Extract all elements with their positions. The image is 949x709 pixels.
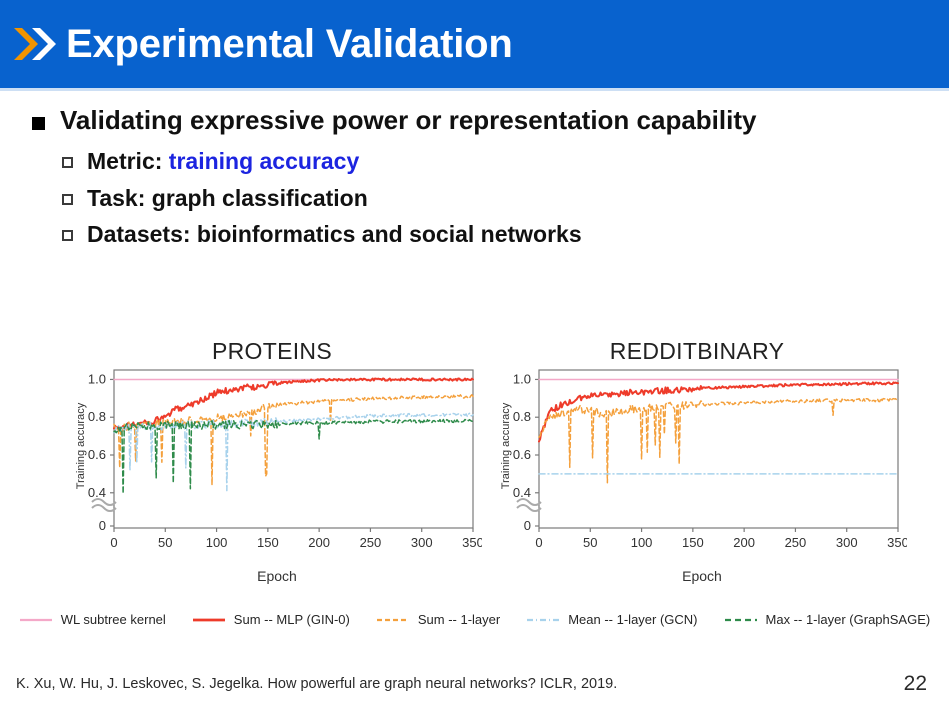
svg-text:150: 150 bbox=[257, 535, 279, 550]
legend-swatch-icon bbox=[724, 615, 758, 625]
legend-label: Max -- 1-layer (GraphSAGE) bbox=[766, 612, 931, 627]
bullet-level2-task: Task: graph classification bbox=[62, 181, 949, 216]
svg-text:0: 0 bbox=[535, 535, 542, 550]
double-chevron-right-icon bbox=[10, 22, 58, 66]
svg-text:1.0: 1.0 bbox=[513, 371, 531, 386]
svg-text:0: 0 bbox=[99, 518, 106, 533]
legend-swatch-icon bbox=[376, 615, 410, 625]
svg-text:250: 250 bbox=[360, 535, 382, 550]
svg-text:200: 200 bbox=[308, 535, 330, 550]
legend-swatch-icon bbox=[19, 615, 53, 625]
svg-text:250: 250 bbox=[785, 535, 807, 550]
bullet-level2-datasets-label: Datasets: bioinformatics and social netw… bbox=[87, 217, 582, 252]
hollow-square-bullet-icon bbox=[62, 194, 73, 205]
svg-text:0.8: 0.8 bbox=[88, 409, 106, 424]
bullet-level2-metric-label: Metric: training accuracy bbox=[87, 144, 359, 179]
page-title: Experimental Validation bbox=[66, 24, 513, 64]
svg-text:350: 350 bbox=[887, 535, 907, 550]
svg-text:1.0: 1.0 bbox=[88, 371, 106, 386]
chart-proteins: PROTEINS Training accuracy Epoch 00.40.6… bbox=[62, 330, 482, 600]
svg-text:0: 0 bbox=[110, 535, 117, 550]
legend-label: Sum -- 1-layer bbox=[418, 612, 500, 627]
chart-redditbinary-plot: 00.40.60.81.0050100150200250300350 bbox=[487, 360, 907, 570]
legend-item-max-1-layer-graphsage: Max -- 1-layer (GraphSAGE) bbox=[724, 612, 931, 627]
header-banner: Experimental Validation bbox=[0, 0, 949, 88]
bullet-level2-metric: Metric: training accuracy bbox=[62, 144, 949, 179]
legend-item-mean-1-layer-gcn: Mean -- 1-layer (GCN) bbox=[526, 612, 697, 627]
legend-label: WL subtree kernel bbox=[61, 612, 166, 627]
legend-label: Mean -- 1-layer (GCN) bbox=[568, 612, 697, 627]
svg-text:300: 300 bbox=[411, 535, 433, 550]
hollow-square-bullet-icon bbox=[62, 230, 73, 241]
svg-text:100: 100 bbox=[631, 535, 653, 550]
page-number: 22 bbox=[904, 672, 927, 696]
legend-swatch-icon bbox=[526, 615, 560, 625]
header-underline bbox=[0, 88, 949, 91]
bullet-level2-task-label: Task: graph classification bbox=[87, 181, 368, 216]
svg-text:0.8: 0.8 bbox=[513, 409, 531, 424]
svg-text:50: 50 bbox=[583, 535, 597, 550]
charts-area: PROTEINS Training accuracy Epoch 00.40.6… bbox=[0, 330, 949, 600]
svg-text:0: 0 bbox=[524, 518, 531, 533]
svg-text:50: 50 bbox=[158, 535, 172, 550]
bullet-metric-prefix: Metric: bbox=[87, 148, 169, 174]
bullet-level2-datasets: Datasets: bioinformatics and social netw… bbox=[62, 217, 949, 252]
footer-citation: K. Xu, W. Hu, J. Leskovec, S. Jegelka. H… bbox=[16, 676, 617, 692]
svg-text:0.6: 0.6 bbox=[513, 447, 531, 462]
svg-text:0.4: 0.4 bbox=[88, 485, 106, 500]
chart-redditbinary-xlabel: Epoch bbox=[527, 568, 877, 584]
filled-square-bullet-icon bbox=[32, 117, 45, 130]
svg-text:0.4: 0.4 bbox=[513, 485, 531, 500]
chart-proteins-xlabel: Epoch bbox=[102, 568, 452, 584]
chart-proteins-plot: 00.40.60.81.0050100150200250300350 bbox=[62, 360, 482, 570]
bullet-list: Validating expressive power or represent… bbox=[0, 104, 949, 254]
svg-text:150: 150 bbox=[682, 535, 704, 550]
legend-item-sum-mlp-gin0: Sum -- MLP (GIN-0) bbox=[192, 612, 350, 627]
legend-swatch-icon bbox=[192, 615, 226, 625]
svg-text:100: 100 bbox=[206, 535, 228, 550]
bullet-level1-label: Validating expressive power or represent… bbox=[60, 104, 756, 137]
chart-legend: WL subtree kernel Sum -- MLP (GIN-0) Sum… bbox=[0, 612, 949, 627]
bullet-metric-highlight: training accuracy bbox=[169, 148, 359, 174]
legend-label: Sum -- MLP (GIN-0) bbox=[234, 612, 350, 627]
legend-item-sum-1-layer: Sum -- 1-layer bbox=[376, 612, 500, 627]
legend-item-wl-subtree-kernel: WL subtree kernel bbox=[19, 612, 166, 627]
bullet-level1: Validating expressive power or represent… bbox=[32, 104, 949, 137]
chart-redditbinary: REDDITBINARY Training accuracy Epoch 00.… bbox=[487, 330, 907, 600]
svg-text:200: 200 bbox=[733, 535, 755, 550]
hollow-square-bullet-icon bbox=[62, 157, 73, 168]
svg-text:0.6: 0.6 bbox=[88, 447, 106, 462]
svg-text:300: 300 bbox=[836, 535, 858, 550]
svg-text:350: 350 bbox=[462, 535, 482, 550]
